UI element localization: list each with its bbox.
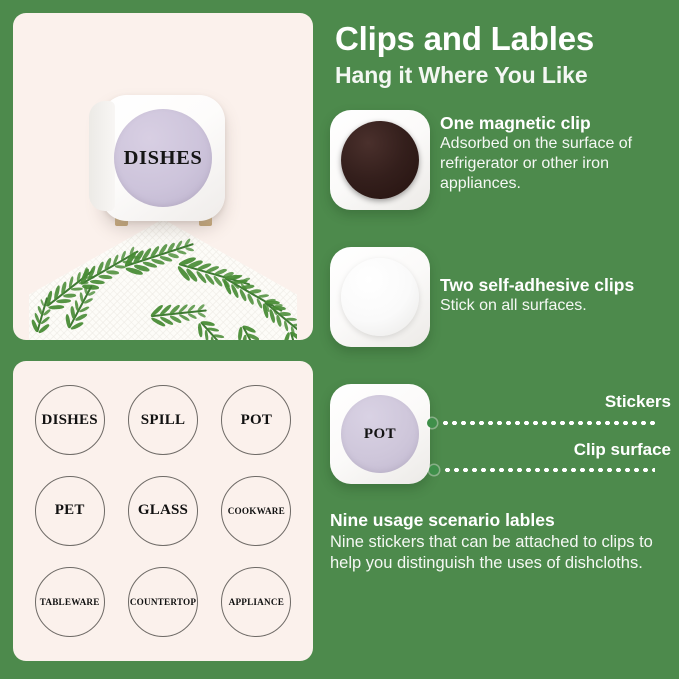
sticker-grid-panel: DISHESSPILLPOTPETGLASSCOOKWARETABLEWAREC… [13,361,313,661]
callout-dot-clip-surface [429,465,439,475]
sticker-circle: GLASS [128,476,198,546]
sticker-cell: GLASS [116,466,209,557]
sticker-cell: DISHES [23,375,116,466]
callout-dot-stickers [427,418,437,428]
callout-leader-line-clip-surface [443,468,655,472]
sticker-circle: DISHES [35,385,105,455]
pot-clip-thumbnail: POT [330,384,430,484]
sticker-label: TABLEWARE [40,597,100,607]
sticker-label: APPLIANCE [229,597,284,607]
feature-adhesive: Two self-adhesive clips Stick on all sur… [440,275,679,316]
sticker-cell: COOKWARE [210,466,303,557]
callout-leader-line-stickers [441,421,655,425]
feature-labels-heading: Nine usage scenario lables [330,510,675,532]
hero-sticker-label: DISHES [124,147,203,170]
sticker-label: COOKWARE [228,506,285,516]
sticker-label: GLASS [138,502,188,519]
pot-sticker-disc: POT [341,395,419,473]
feature-adhesive-body: Stick on all surfaces. [440,296,679,316]
hero-clip-sticker: DISHES [114,109,212,207]
sticker-cell: POT [210,375,303,466]
hero-clip-body: DISHES [101,95,225,221]
sticker-cell: APPLIANCE [210,556,303,647]
feature-labels-body: Nine stickers that can be attached to cl… [330,532,675,575]
sticker-cell: SPILL [116,375,209,466]
callout-label-clip-surface: Clip surface [574,440,671,460]
sticker-label: POT [241,412,272,429]
sticker-cell: TABLEWARE [23,556,116,647]
dishcloth-towel [29,219,297,340]
page-title: Clips and Lables [335,20,594,58]
right-column: Clips and Lables Hang it Where You Like … [327,0,679,679]
sticker-label: SPILL [141,412,185,429]
adhesive-clip-thumbnail [330,247,430,347]
sticker-circle: APPLIANCE [221,567,291,637]
sticker-label: DISHES [42,412,98,429]
sticker-label: COUNTERTOP [130,597,196,607]
page-subtitle: Hang it Where You Like [335,62,588,89]
feature-magnetic-heading: One magnetic clip [440,113,679,134]
sticker-circle: POT [221,385,291,455]
feature-magnetic: One magnetic clip Adsorbed on the surfac… [440,113,679,194]
feature-nine-labels: Nine usage scenario lables Nine stickers… [330,510,675,575]
sticker-cell: COUNTERTOP [116,556,209,647]
sticker-cell: PET [23,466,116,557]
feature-magnetic-body: Adsorbed on the surface of refrigerator … [440,134,679,194]
sticker-circle: PET [35,476,105,546]
hero-image-panel: DISHES [13,13,313,340]
sticker-circle: SPILL [128,385,198,455]
callout-label-stickers: Stickers [605,392,671,412]
pot-sticker-label: POT [364,426,396,443]
feature-adhesive-heading: Two self-adhesive clips [440,275,679,296]
magnetic-clip-thumbnail [330,110,430,210]
sticker-circle: COUNTERTOP [128,567,198,637]
magnet-disc-icon [341,121,419,199]
sticker-circle: COOKWARE [221,476,291,546]
sticker-circle: TABLEWARE [35,567,105,637]
sticker-label: PET [55,502,85,519]
adhesive-disc-icon [341,258,419,336]
